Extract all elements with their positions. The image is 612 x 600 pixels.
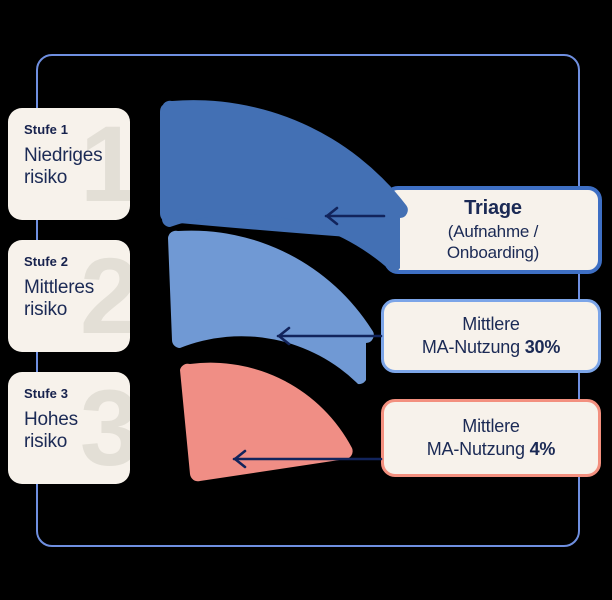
diagram-canvas: 1 Stufe 1 Niedriges risiko 2 Stufe 2 Mit…	[0, 0, 612, 600]
connector-arrows	[0, 0, 612, 600]
